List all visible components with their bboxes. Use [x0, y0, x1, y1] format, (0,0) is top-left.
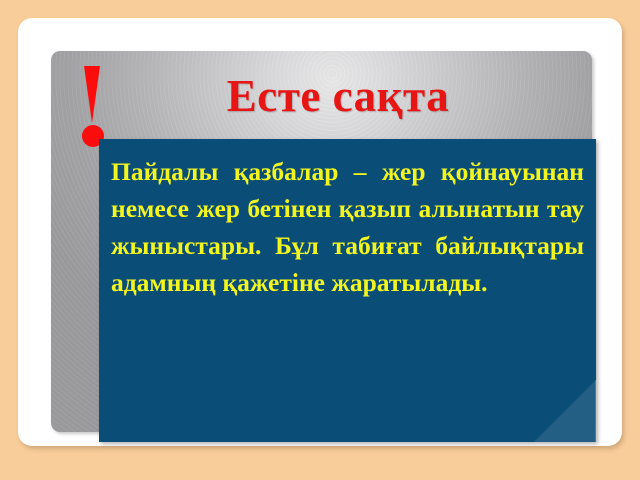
slide-title: Есте сақта	[128, 70, 548, 122]
body-paragraph-text: Пайдалы қазбалар – жер қойнауынан немесе…	[111, 153, 584, 301]
exclamation-mark-icon	[82, 66, 104, 148]
page-curl-edge	[533, 380, 596, 442]
slide-canvas: Есте сақта Пайдалы қазбалар – жер қойнау…	[0, 0, 640, 480]
content-box: Пайдалы қазбалар – жер қойнауынан немесе…	[99, 139, 596, 442]
body-paragraph: Пайдалы қазбалар – жер қойнауынан немесе…	[111, 153, 584, 301]
slide-card: Есте сақта Пайдалы қазбалар – жер қойнау…	[18, 18, 622, 446]
exclamation-bar	[84, 66, 100, 123]
